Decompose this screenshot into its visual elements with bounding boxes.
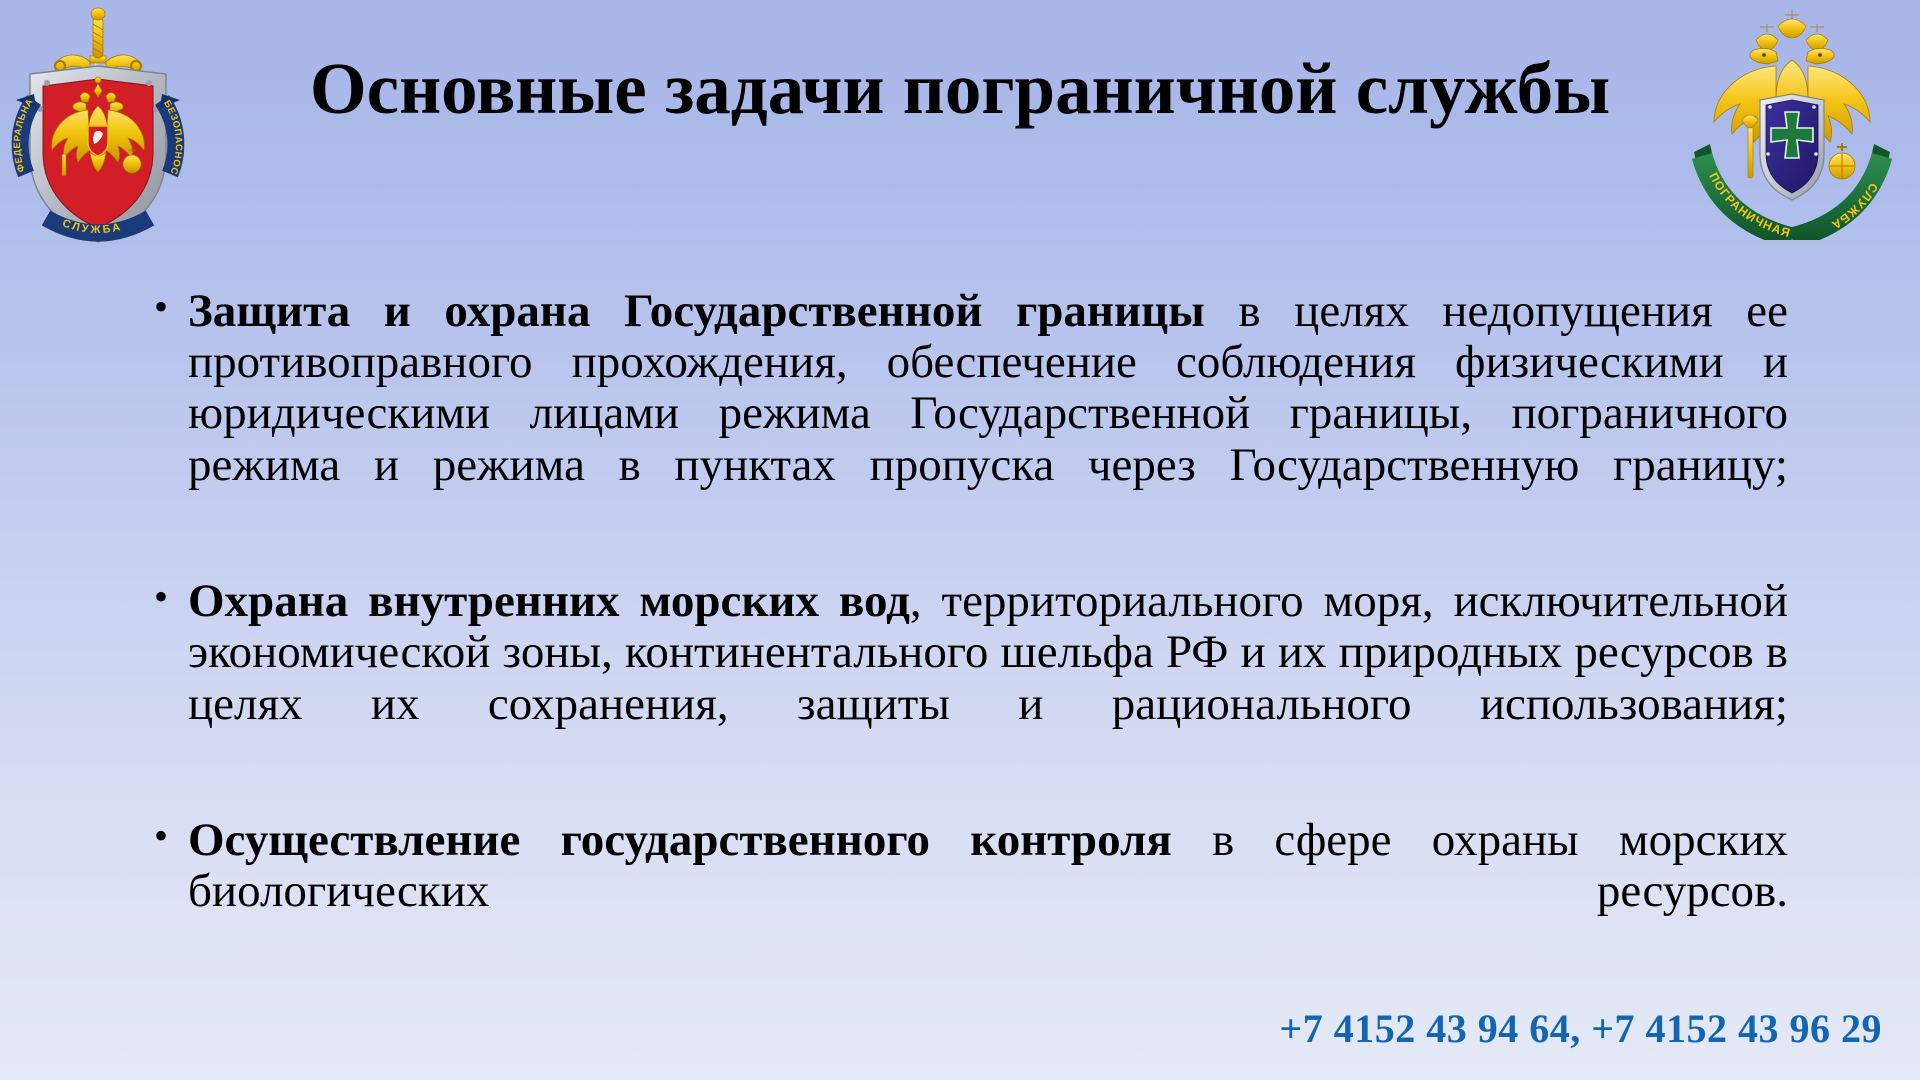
bullet-lead: Охрана внутренних морских вод: [188, 575, 910, 627]
footer-phone-numbers: +7 4152 43 94 64, +7 4152 43 96 29: [1279, 1005, 1882, 1052]
bullet-paragraph: Охрана внутренних морских вод, территори…: [188, 576, 1788, 781]
list-item: Защита и охрана Государственной границы …: [148, 286, 1788, 542]
bullet-list: Защита и охрана Государственной границы …: [148, 286, 1788, 969]
page-title: Основные задачи пограничной службы: [190, 52, 1730, 126]
bullet-paragraph: Осуществление государственного контроля …: [188, 815, 1788, 969]
list-item: Охрана внутренних морских вод, территори…: [148, 576, 1788, 781]
bullet-content: Защита и охрана Государственной границы …: [148, 286, 1788, 969]
shield-shape: [1760, 94, 1824, 200]
bullet-lead: Защита и охрана Государственной границы: [188, 285, 1205, 337]
bullet-paragraph: Защита и охрана Государственной границы …: [188, 286, 1788, 542]
bullet-lead: Осуществление государственного контроля: [188, 814, 1172, 866]
slide-canvas: ФЕДЕРАЛЬНАЯ БЕЗОПАСНОСТИ СЛУЖБА: [0, 0, 1920, 1080]
crowns: [1756, 10, 1828, 50]
chest-shield: [88, 126, 108, 156]
fsb-emblem-graphic: ФЕДЕРАЛЬНАЯ БЕЗОПАСНОСТИ СЛУЖБА: [10, 4, 186, 254]
fsb-emblem: ФЕДЕРАЛЬНАЯ БЕЗОПАСНОСТИ СЛУЖБА: [10, 4, 186, 254]
list-item: Осуществление государственного контроля …: [148, 815, 1788, 969]
